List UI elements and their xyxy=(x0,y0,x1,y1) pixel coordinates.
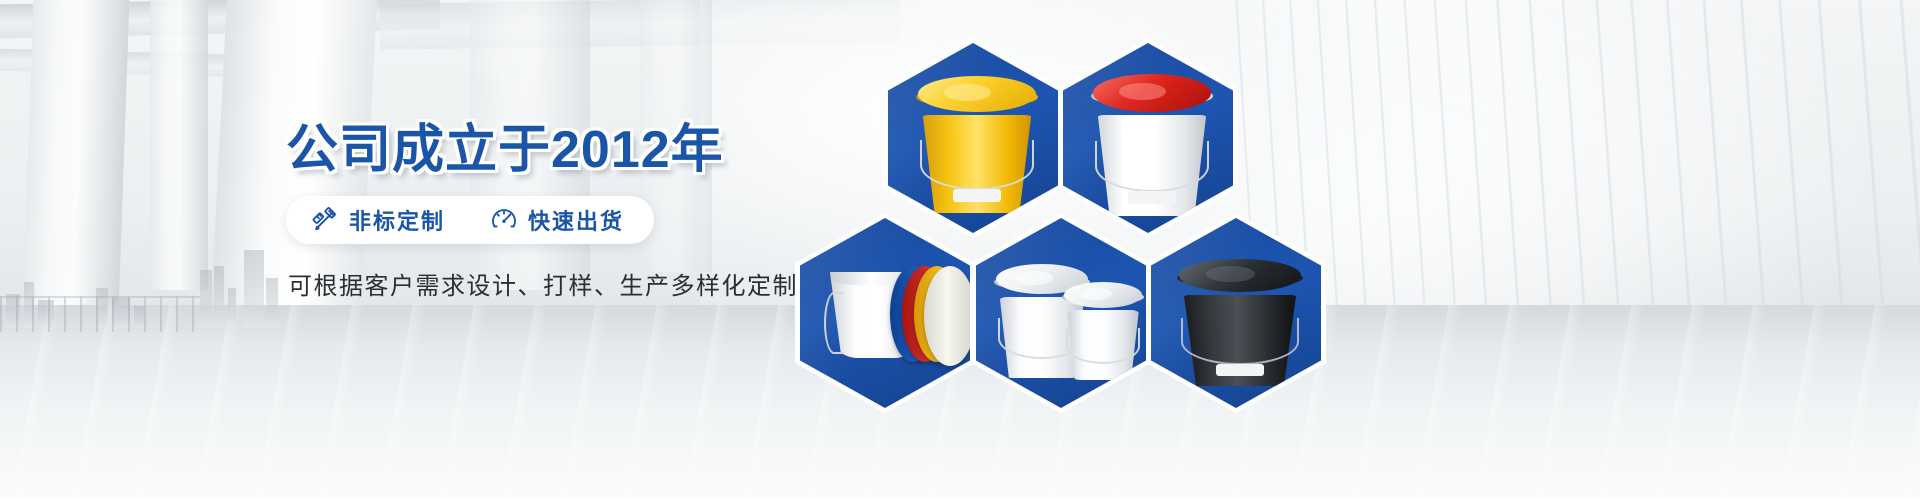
speedometer-icon xyxy=(491,207,517,233)
yellow-bucket-image xyxy=(918,73,1036,213)
product-hexagon-gallery xyxy=(795,0,1595,498)
ruler-pencil-icon xyxy=(312,207,338,233)
feature-label: 非标定制 xyxy=(349,204,445,236)
page-title: 公司成立于2012年 xyxy=(286,124,806,176)
bridge-silhouette xyxy=(0,296,200,332)
black-bucket-image xyxy=(1179,256,1301,386)
feature-pill: 非标定制 快速出货 xyxy=(286,196,654,244)
product-hex-black-bucket[interactable] xyxy=(1146,213,1326,413)
product-hex-colored-lids[interactable] xyxy=(795,213,975,413)
product-hex-red-lid-bucket[interactable] xyxy=(1058,38,1238,238)
white-bucket-image xyxy=(1064,280,1142,380)
banner-text-block: 公司成立于2012年 非标定制 xyxy=(286,124,806,301)
product-hex-white-buckets[interactable] xyxy=(971,213,1151,413)
product-hex-yellow-bucket[interactable] xyxy=(883,38,1063,238)
feature-fast-shipping[interactable]: 快速出货 xyxy=(491,204,624,236)
banner-subtitle: 可根据客户需求设计、打样、生产多样化定制 xyxy=(288,266,806,301)
feature-label: 快速出货 xyxy=(528,204,624,236)
feature-custom[interactable]: 非标定制 xyxy=(312,204,445,236)
promo-banner: 公司成立于2012年 非标定制 xyxy=(0,0,1920,498)
white-bucket-red-lid-image xyxy=(1093,71,1211,216)
